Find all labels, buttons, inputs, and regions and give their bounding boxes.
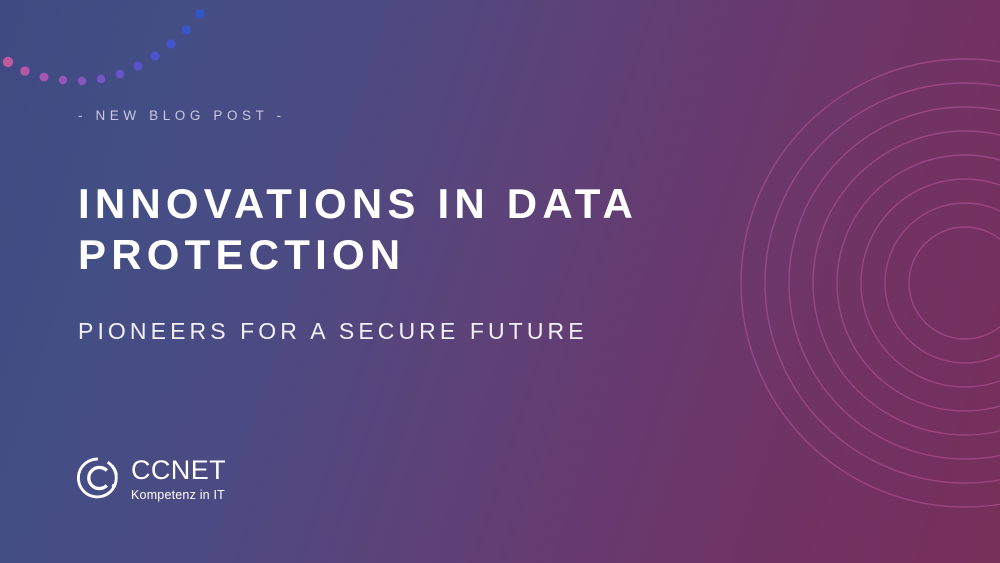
page-title: INNOVATIONS IN DATA PROTECTION	[78, 178, 778, 280]
logo-text-block: CCNET Kompetenz in IT	[131, 455, 226, 502]
eyebrow-label: - NEW BLOG POST -	[78, 108, 286, 123]
ccnet-circular-c-logo-icon	[76, 456, 120, 500]
logo-wordmark: CCNET	[131, 457, 226, 484]
logo-tagline: Kompetenz in IT	[131, 489, 226, 502]
page-subtitle: PIONEERS FOR A SECURE FUTURE	[78, 318, 588, 345]
ccnet-logo[interactable]: CCNET Kompetenz in IT	[76, 455, 226, 502]
blog-post-banner: - NEW BLOG POST - INNOVATIONS IN DATA PR…	[0, 0, 1000, 563]
